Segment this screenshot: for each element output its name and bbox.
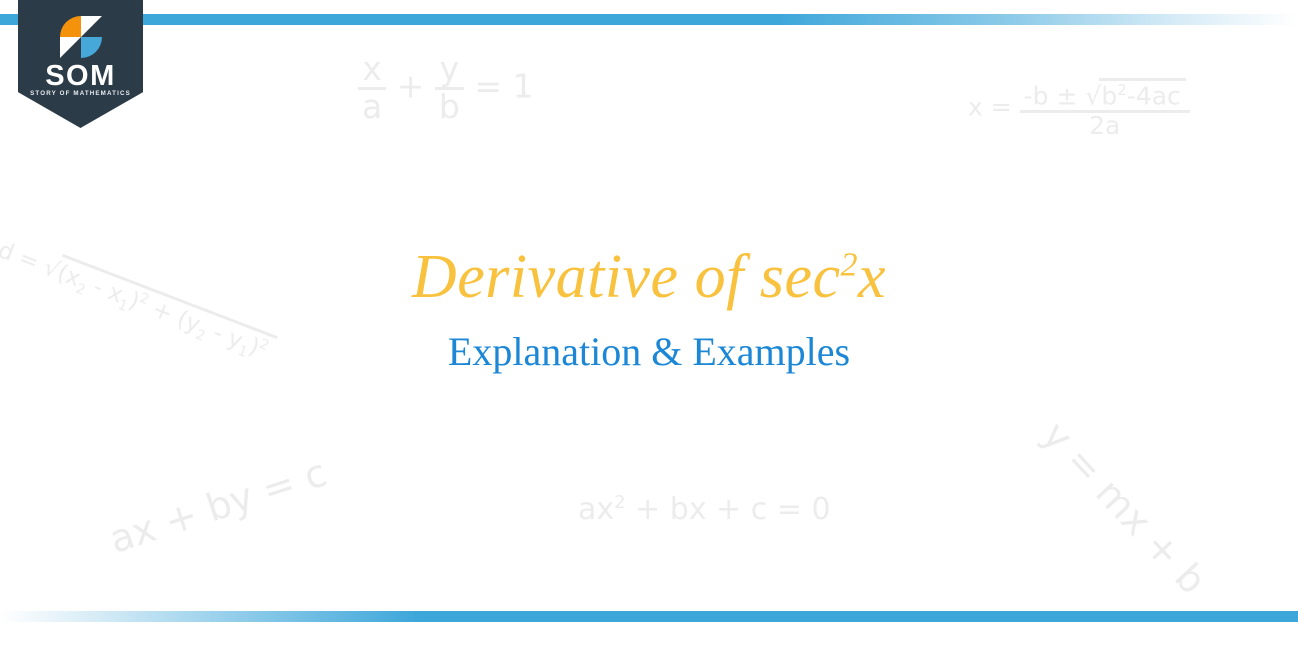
right-hand-side: 1 (513, 67, 534, 106)
radicand: b2-4ac (1099, 78, 1185, 110)
title-slide: x a + y b = 1 x = -b ± √b2-4ac 2a d = √(… (0, 0, 1298, 649)
fraction-numerator: -b ± √b2-4ac (1020, 78, 1190, 113)
som-logo-badge[interactable]: SOM STORY OF MATHEMATICS (18, 0, 143, 128)
watermark-equation-line-intercept: x a + y b = 1 (358, 52, 534, 124)
title-variable: x (858, 243, 886, 311)
logo-wordmark: SOM (18, 62, 143, 91)
fraction-denominator: 2a (1020, 113, 1190, 139)
title-prefix: Derivative of (412, 243, 760, 311)
numerator-lead: -b ± (1024, 81, 1078, 110)
page-title: Derivative of sec2x (0, 243, 1298, 312)
left-hand-side: x = (968, 92, 1012, 121)
operator-equals: = (474, 67, 502, 106)
headline-block: Derivative of sec2x Explanation & Exampl… (0, 243, 1298, 374)
watermark-equation-quadratic-formula: x = -b ± √b2-4ac 2a (968, 78, 1190, 139)
logo-tagline: STORY OF MATHEMATICS (18, 91, 143, 97)
fraction-quadratic: -b ± √b2-4ac 2a (1020, 78, 1190, 139)
top-accent-rule (0, 14, 1298, 25)
som-s-mark-icon (55, 14, 107, 60)
fraction-denominator: b (435, 90, 464, 125)
fraction-denominator: a (358, 90, 386, 125)
watermark-equation-slope-intercept: y = mx + b (1034, 413, 1215, 603)
title-function: sec (760, 243, 841, 311)
fraction-x-over-a: x a (358, 52, 386, 124)
page-subtitle: Explanation & Examples (0, 330, 1298, 374)
watermark-equation-quadratic-standard: ax2 + bx + c = 0 (578, 492, 831, 527)
fraction-y-over-b: y b (435, 52, 464, 124)
fraction-numerator: x (358, 52, 386, 90)
watermark-equation-standard-line: ax + by = c (104, 450, 332, 561)
fraction-numerator: y (435, 52, 464, 90)
operator-plus: + (397, 67, 425, 106)
bottom-accent-rule (0, 611, 1298, 622)
title-exponent: 2 (840, 246, 858, 283)
